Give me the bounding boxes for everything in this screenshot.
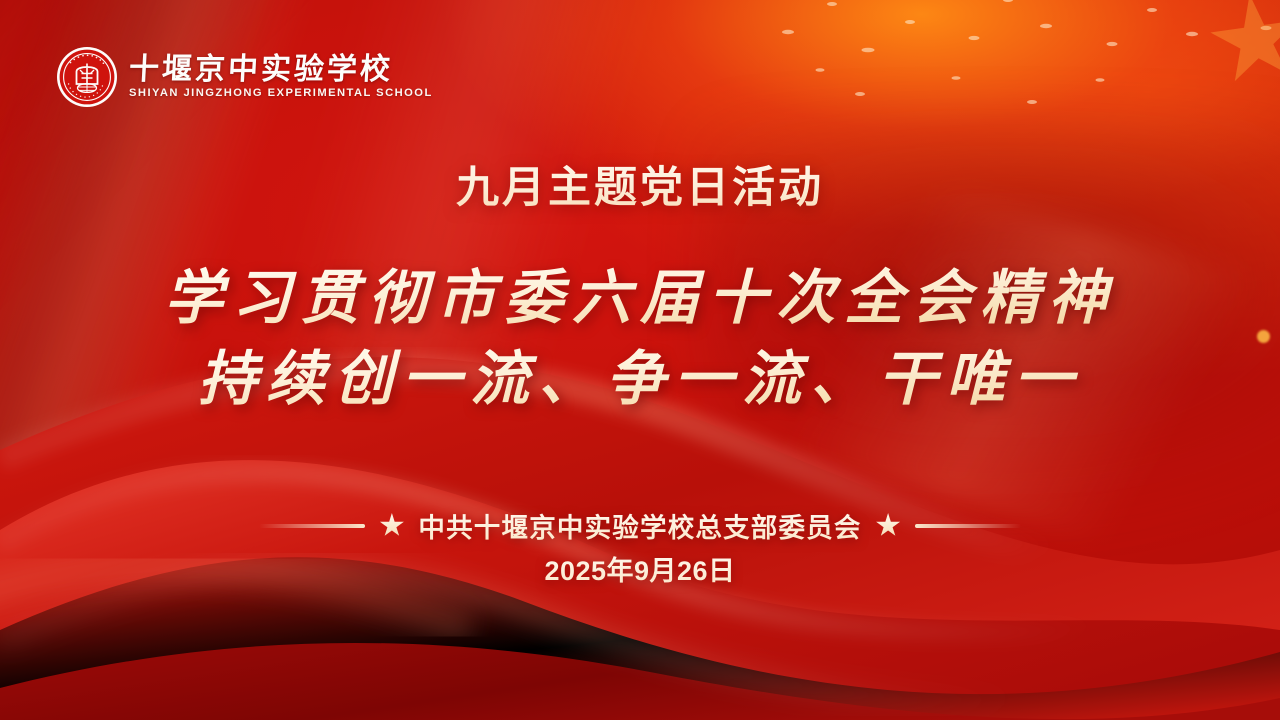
main-title: 学习贯彻市委六届十次全会精神 持续创一流、争一流、干唯一 xyxy=(0,262,1280,416)
main-title-line-2: 持续创一流、争一流、干唯一 xyxy=(0,343,1280,416)
star-icon-right xyxy=(876,513,901,538)
school-name-en: SHIYAN JINGZHONG EXPERIMENTAL SCHOOL xyxy=(129,87,433,100)
divider-line-left xyxy=(259,524,365,528)
main-title-line-1: 学习贯彻市委六届十次全会精神 xyxy=(0,262,1280,335)
school-seal-icon xyxy=(56,46,118,108)
event-date: 2025年9月26日 xyxy=(544,549,735,588)
school-logo[interactable]: 十堰京中实验学校 SHIYAN JINGZHONG EXPERIMENTAL S… xyxy=(56,46,433,108)
poster-canvas: 十堰京中实验学校 SHIYAN JINGZHONG EXPERIMENTAL S… xyxy=(0,0,1280,720)
organization-name: 中共十堰京中实验学校总支部委员会 xyxy=(418,506,861,545)
school-name-cn: 十堰京中实验学校 xyxy=(128,54,433,86)
poster-footer: 中共十堰京中实验学校总支部委员会 2025年9月26日 xyxy=(0,506,1280,588)
organization-row: 中共十堰京中实验学校总支部委员会 xyxy=(259,506,1020,545)
divider-line-right xyxy=(915,524,1021,528)
event-subtitle: 九月主题党日活动 xyxy=(0,153,1280,215)
background-star-icon xyxy=(1204,0,1280,92)
star-icon-left xyxy=(379,513,404,538)
